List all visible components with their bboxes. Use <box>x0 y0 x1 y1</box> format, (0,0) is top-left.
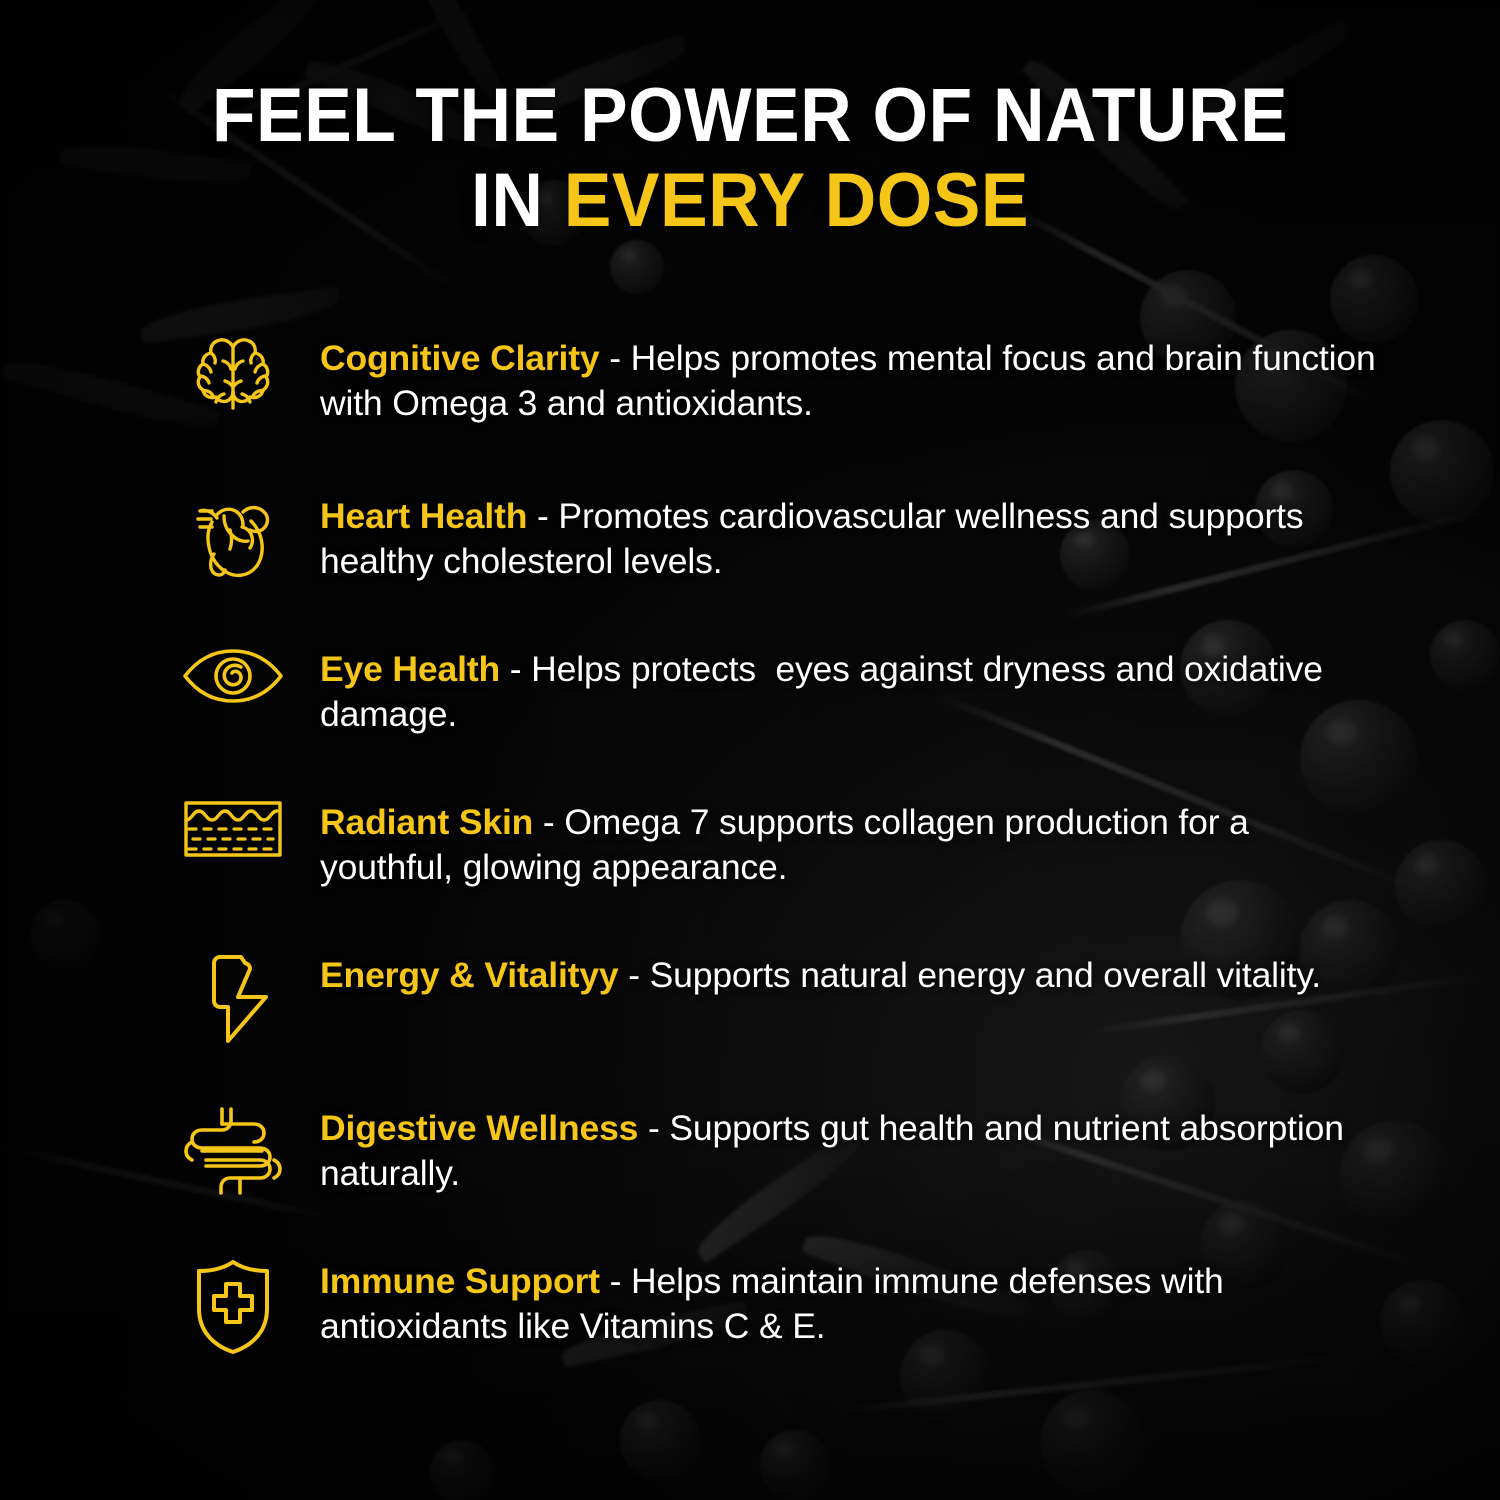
eye-icon <box>145 641 320 707</box>
benefit-item-heart-health: Heart Health - Promotes cardiovascular w… <box>145 488 1390 633</box>
benefit-term: Eye Health <box>320 649 500 689</box>
benefit-text: Energy & Vitalityy - Supports natural en… <box>320 947 1390 998</box>
benefit-term: Radiant Skin <box>320 802 533 842</box>
intestine-icon <box>145 1100 320 1198</box>
benefit-term: Energy & Vitalityy <box>320 955 619 995</box>
benefit-item-eye-health: Eye Health - Helps protects eyes against… <box>145 641 1390 786</box>
benefit-term: Immune Support <box>320 1261 600 1301</box>
benefit-text: Digestive Wellness - Supports gut health… <box>320 1100 1390 1196</box>
headline-line-1: FEEL THE POWER OF NATURE <box>212 73 1288 158</box>
benefits-poster: FEEL THE POWER OF NATURE IN EVERY DOSE C… <box>0 0 1500 1500</box>
benefit-description: - Supports natural energy and overall vi… <box>619 955 1322 995</box>
benefits-list: Cognitive Clarity - Helps promotes menta… <box>145 330 1390 1406</box>
headline-line-2: IN EVERY DOSE <box>45 163 1455 238</box>
benefit-item-energy-vitality: Energy & Vitalityy - Supports natural en… <box>145 947 1390 1092</box>
skin-layers-icon <box>145 794 320 860</box>
benefit-text: Immune Support - Helps maintain immune d… <box>320 1253 1390 1349</box>
benefit-term: Cognitive Clarity <box>320 338 600 378</box>
benefit-item-immune-support: Immune Support - Helps maintain immune d… <box>145 1253 1390 1398</box>
anatomical-heart-icon <box>145 488 320 584</box>
headline-line-2-prefix: IN <box>471 158 564 243</box>
benefit-item-cognitive-clarity: Cognitive Clarity - Helps promotes menta… <box>145 330 1390 480</box>
benefit-text: Cognitive Clarity - Helps promotes menta… <box>320 330 1390 426</box>
brain-icon <box>145 330 320 420</box>
benefit-text: Radiant Skin - Omega 7 supports collagen… <box>320 794 1390 890</box>
benefit-item-radiant-skin: Radiant Skin - Omega 7 supports collagen… <box>145 794 1390 939</box>
headline-accent: EVERY DOSE <box>564 158 1029 243</box>
benefit-term: Digestive Wellness <box>320 1108 638 1148</box>
benefit-term: Heart Health <box>320 496 527 536</box>
shield-plus-icon <box>145 1253 320 1357</box>
lightning-bolt-icon <box>145 947 320 1047</box>
page-title: FEEL THE POWER OF NATURE IN EVERY DOSE <box>45 78 1455 238</box>
benefit-text: Heart Health - Promotes cardiovascular w… <box>320 488 1390 584</box>
benefit-text: Eye Health - Helps protects eyes against… <box>320 641 1390 737</box>
benefit-item-digestive-wellness: Digestive Wellness - Supports gut health… <box>145 1100 1390 1245</box>
